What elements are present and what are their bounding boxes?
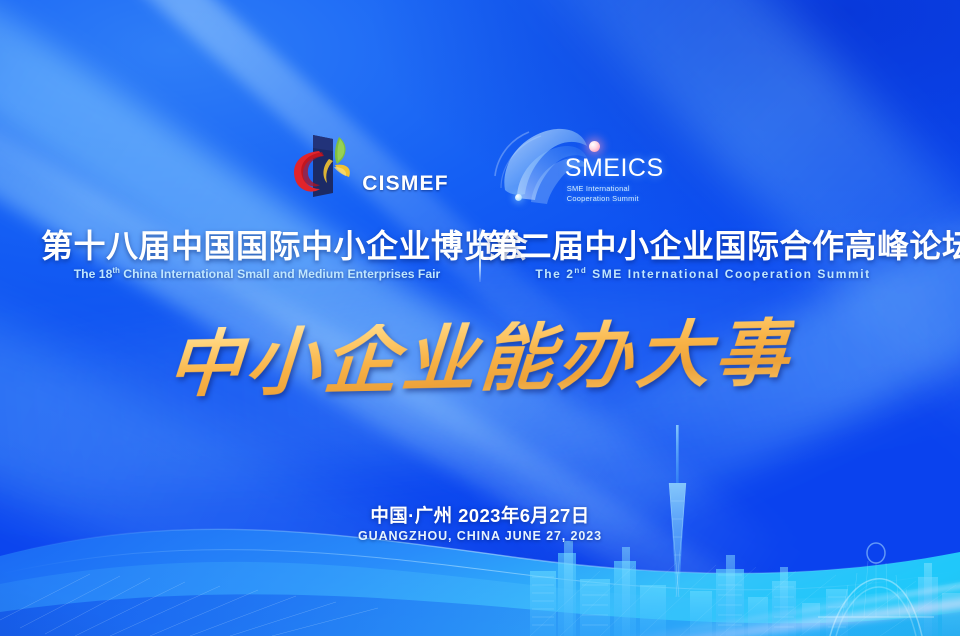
title-divider: [479, 228, 481, 282]
fair-title-cn: 第十八届中国国际中小企业博览会: [41, 230, 473, 263]
event-date-cn: 中国·广州 2023年6月27日: [0, 505, 960, 526]
slogan-area: 中小企业能办大事: [0, 304, 960, 414]
summit-title-en: The 2nd SME International Cooperation Su…: [487, 267, 919, 280]
summit-title-en-prefix: The 2: [535, 267, 574, 281]
event-date-block: 中国·广州 2023年6月27日 GUANGZHOU, CHINA JUNE 2…: [0, 505, 960, 543]
cismef-emblem-icon: [289, 131, 355, 203]
fair-title-en-ordinal: th: [112, 266, 120, 275]
event-date-en: GUANGZHOU, CHINA JUNE 27, 2023: [0, 529, 960, 543]
cismef-logo: CISMEF: [289, 127, 449, 203]
summit-title-en-ordinal: nd: [574, 266, 587, 275]
logo-row: CISMEF: [0, 118, 960, 212]
smeics-subtitle-line2: Cooperation Summit: [567, 194, 639, 203]
smeics-subtitle-line1: SME International: [567, 184, 630, 193]
title-row: 第十八届中国国际中小企业博览会 The 18th China Internati…: [0, 222, 960, 288]
title-block-fair: 第十八届中国国际中小企业博览会 The 18th China Internati…: [37, 230, 477, 281]
summit-title-cn: 第二届中小企业国际合作高峰论坛: [487, 230, 919, 263]
poster-stage: CISMEF: [0, 0, 960, 636]
slogan-calligraphy: 中小企业能办大事: [165, 316, 795, 402]
smeics-accent-dot: [589, 141, 600, 152]
fair-title-en: The 18th China International Small and M…: [41, 267, 473, 280]
fair-title-en-prefix: The 18: [74, 267, 113, 281]
fair-title-en-rest: China International Small and Medium Ent…: [120, 267, 440, 281]
smeics-logo: SMEICS SME International Cooperation Sum…: [491, 122, 671, 208]
summit-title-en-rest: SME International Cooperation Summit: [587, 267, 870, 281]
title-block-summit: 第二届中小企业国际合作高峰论坛 The 2nd SME Internationa…: [483, 230, 923, 281]
smeics-wordmark: SMEICS: [565, 156, 664, 181]
smeics-accent-dot-small: [515, 194, 522, 201]
cismef-wordmark: CISMEF: [362, 173, 449, 203]
smeics-subtitle: SME International Cooperation Summit: [567, 184, 639, 204]
